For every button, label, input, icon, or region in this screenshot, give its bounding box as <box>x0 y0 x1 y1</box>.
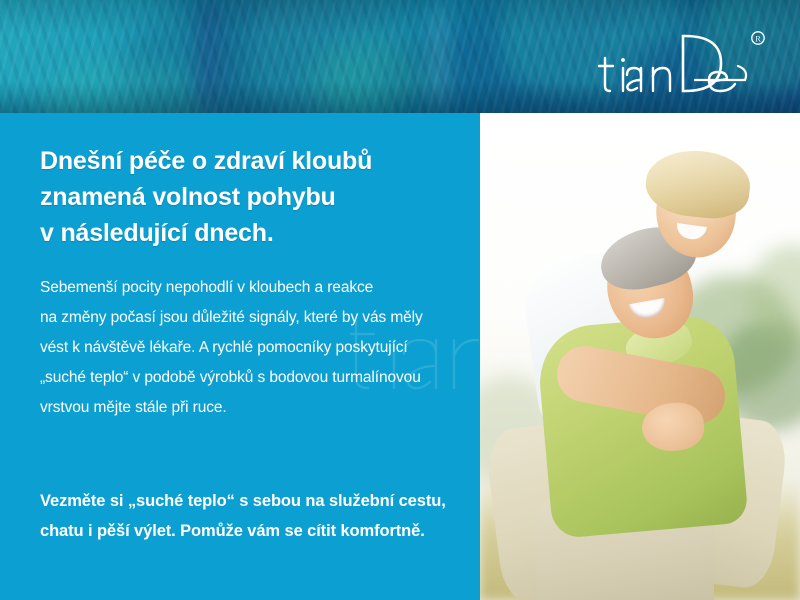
closing-line-1: Vezměte si „suché teplo“ s sebou na služ… <box>40 486 479 516</box>
body-line-3: vést k návštěvě lékaře. A rychlé pomocní… <box>40 333 470 363</box>
body-line-4: „suché teplo“ v podobě výrobků s bodovou… <box>40 363 470 393</box>
closing-statement: Vezměte si „suché teplo“ s sebou na služ… <box>40 486 479 546</box>
body-line-1: Sebemenší pocity nepohodlí v kloubech a … <box>40 273 470 303</box>
body-line-5: vrstvou mějte stále při ruce. <box>40 393 470 423</box>
photo-frame <box>480 113 800 600</box>
photo-highlight-overlay <box>480 125 800 600</box>
headline-line-1: Dnešní péče o zdraví kloubů <box>40 143 470 179</box>
message-panel: Dnešní péče o zdraví kloubů znamená voln… <box>0 113 479 600</box>
promotional-poster: R <box>0 0 800 600</box>
closing-line-2: chatu i pěší výlet. Pomůže vám se cítit … <box>40 516 479 546</box>
tiande-logo: R <box>597 28 772 100</box>
headline: Dnešní péče o zdraví kloubů znamená voln… <box>40 143 470 251</box>
svg-text:R: R <box>755 34 761 43</box>
headline-line-2: znamená volnost pohybu <box>40 179 470 215</box>
panel-copy: Dnešní péče o zdraví kloubů znamená voln… <box>40 113 470 423</box>
headline-line-3: v následující dnech. <box>40 215 470 251</box>
body-line-2: na změny počasí jsou důležité signály, k… <box>40 303 470 333</box>
body-paragraph: Sebemenší pocity nepohodlí v kloubech a … <box>40 273 470 423</box>
couple-photo <box>480 125 800 600</box>
header-texture-band: R <box>0 0 800 113</box>
